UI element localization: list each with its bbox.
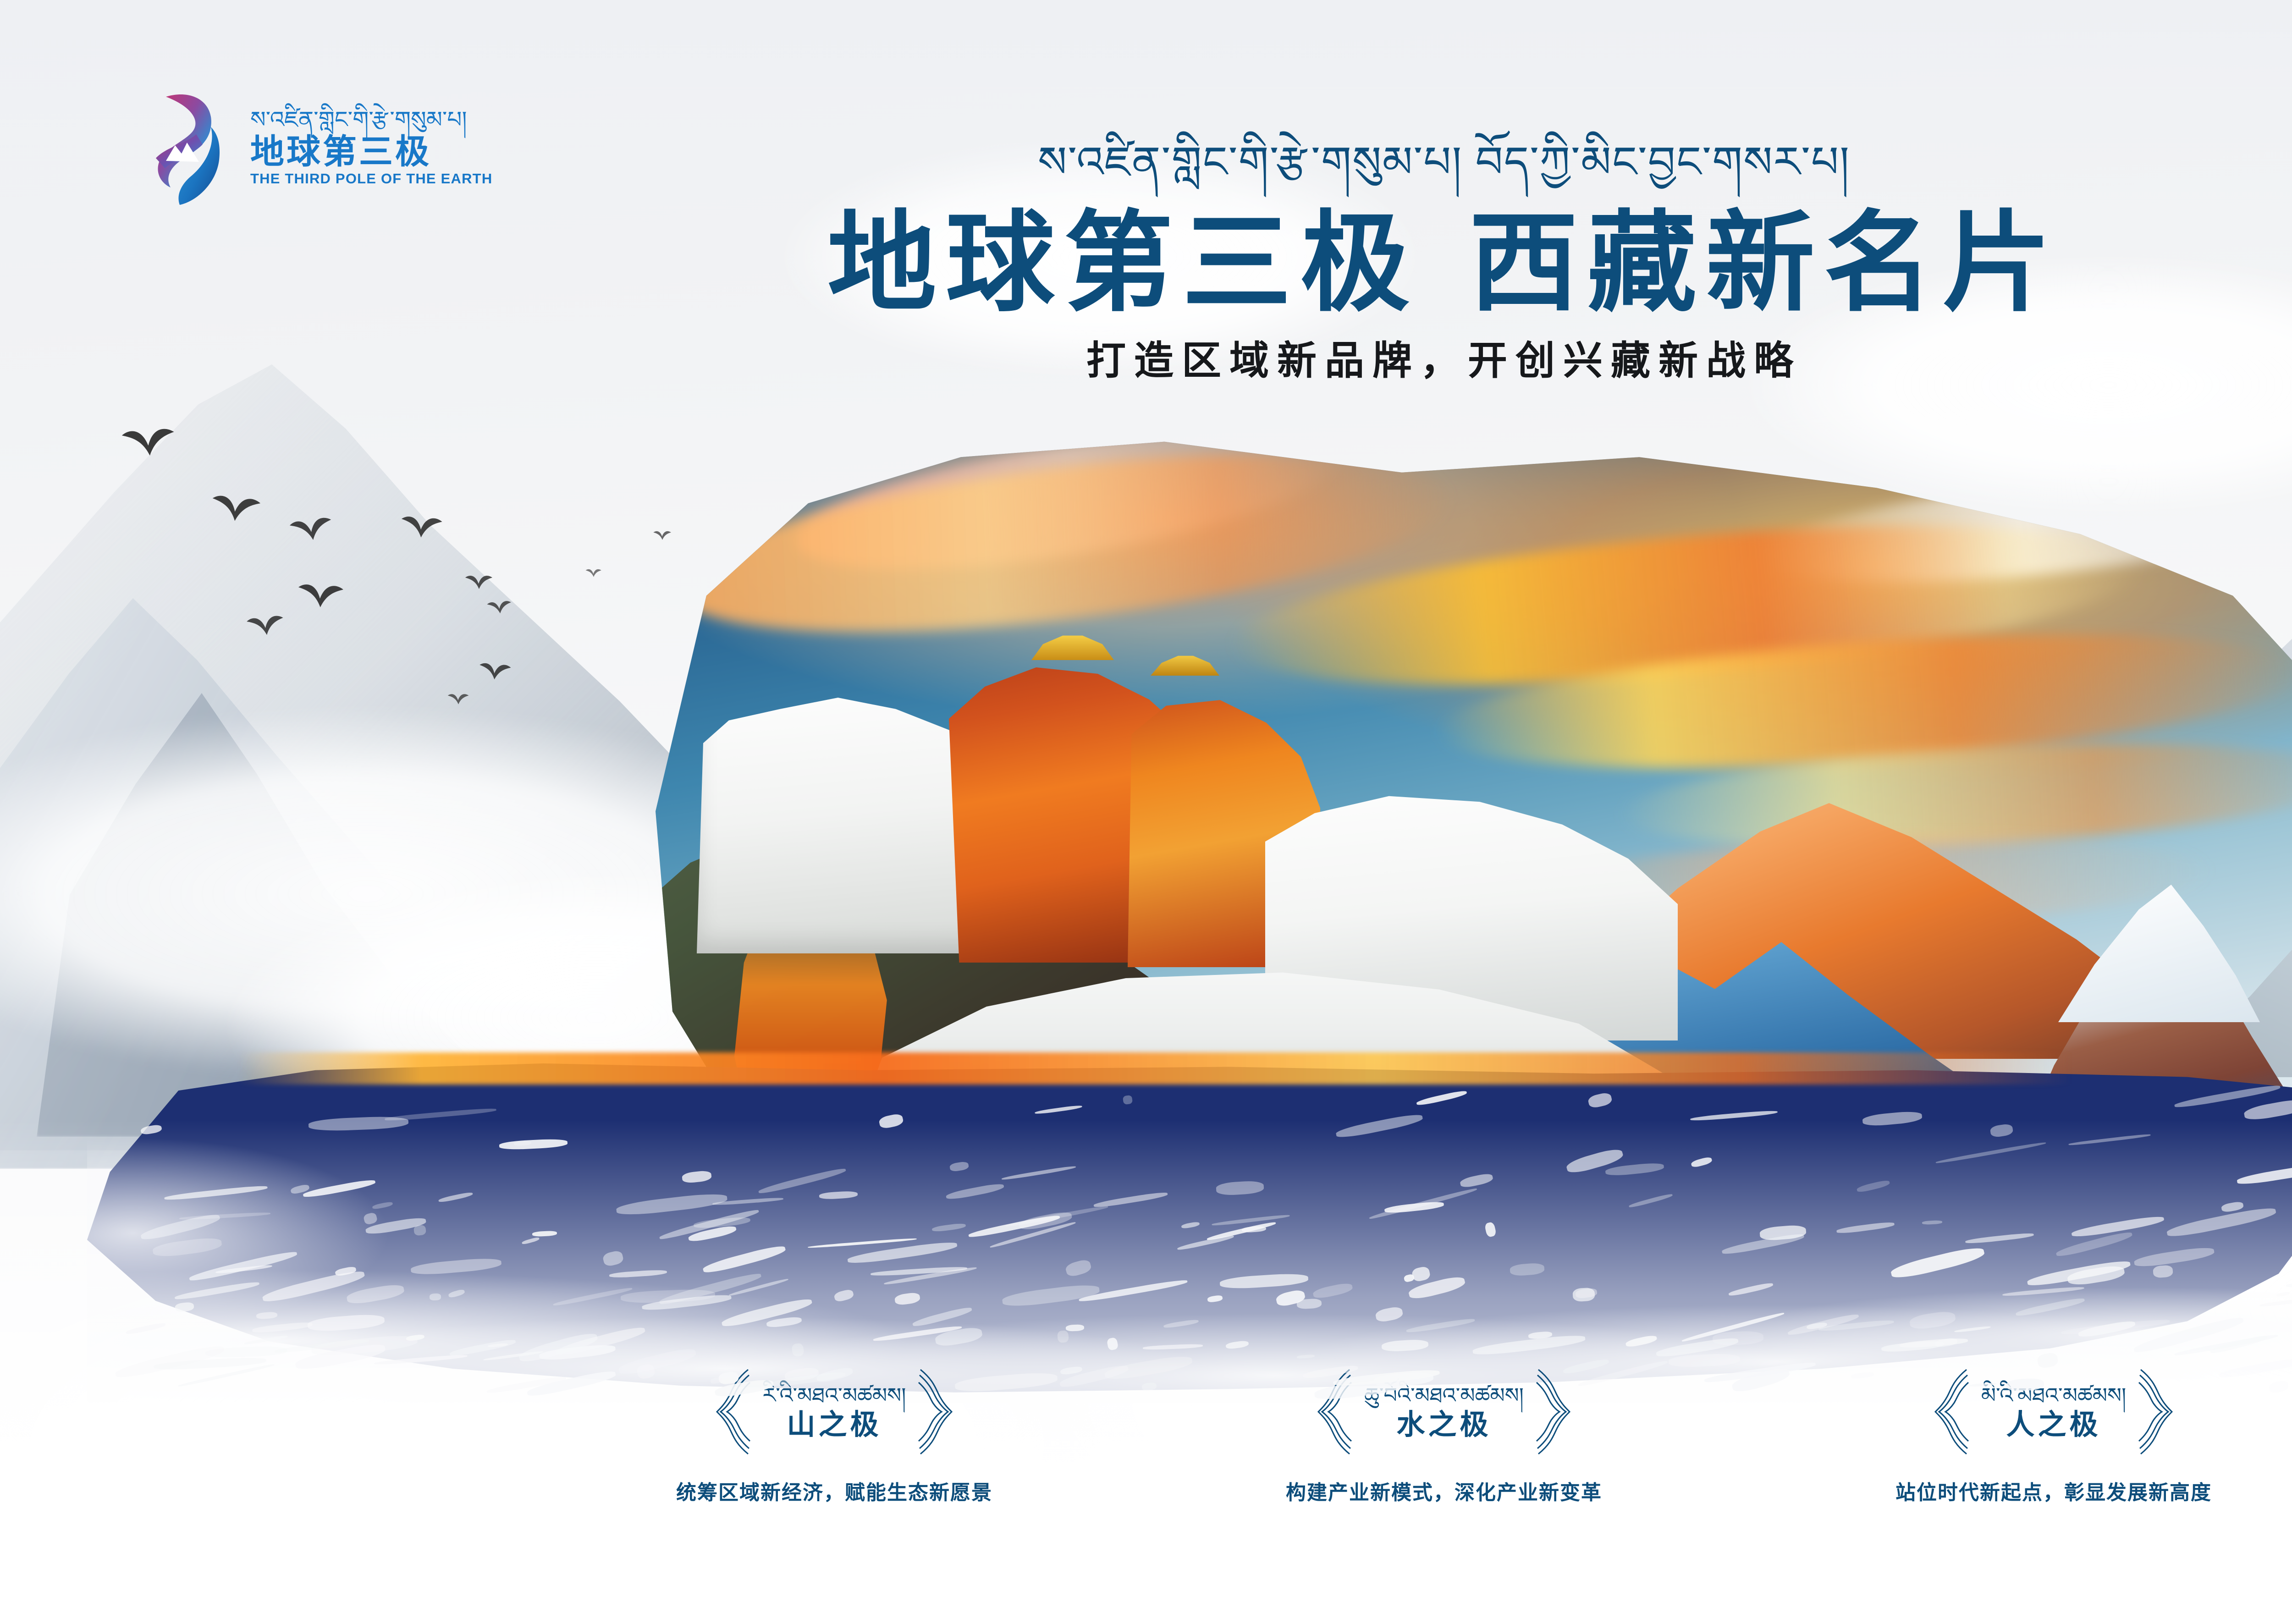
brush-speckle [430, 1294, 441, 1301]
flying-bird-icon [288, 514, 336, 545]
pillar-people[interactable]: མི་འི་མཐའ་མཚམས། 人之极 站位时代新起点，彰显发展新高度 [1847, 1366, 2260, 1505]
bracket-right-icon [2138, 1366, 2180, 1458]
pillar-water-words: ཆུ་བོའི་མཐའ་མཚམས། 水之极 [1364, 1384, 1524, 1440]
bracket-right-icon [918, 1366, 960, 1458]
poster-canvas: ས་འཛིན་གླིང་གི་རྩེ་གསུམ་པ། 地球第三极 THE THI… [0, 0, 2292, 1624]
flying-bird-icon [246, 612, 286, 639]
flying-bird-icon [653, 530, 672, 541]
pillar-people-words: མི་འི་མཐའ་མཚམས། 人之极 [1981, 1384, 2127, 1440]
headline-block: ས་འཛིན་གླིང་གི་རྩེ་གསུམ་པ། བོད་ཀྱི་མིང་བ… [0, 138, 2292, 383]
flying-bird-icon [121, 424, 178, 460]
pillar-water[interactable]: ཆུ་བོའི་མཐའ་མཚམས། 水之极 构建产业新模式，深化产业新变革 [1238, 1366, 1650, 1505]
flying-bird-icon [297, 581, 345, 611]
flying-bird-icon [465, 574, 493, 590]
pillar-mountain-tibetan: རི་འི་མཐའ་མཚམས། [763, 1384, 906, 1407]
pillar-people-desc: 站位时代新起点，彰显发展新高度 [1847, 1476, 2260, 1505]
flying-bird-icon [486, 599, 513, 616]
headline-tibetan: ས་འཛིན་གླིང་གི་རྩེ་གསུམ་པ། བོད་ཀྱི་མིང་བ… [0, 138, 2292, 187]
pillar-people-title: 人之极 [2006, 1410, 2101, 1440]
banner-fire-edge [238, 1052, 2072, 1085]
flying-bird-icon [209, 491, 263, 526]
pillar-mountain-words: རི་འི་མཐའ་མཚམས། 山之极 [763, 1384, 906, 1440]
flying-bird-icon [399, 513, 444, 541]
pillar-water-title: 水之极 [1396, 1410, 1491, 1440]
logo-tibetan-text: ས་འཛིན་གླིང་གི་རྩེ་གསུམ་པ། [250, 108, 492, 132]
flying-bird-icon [478, 661, 512, 683]
pillar-water-desc: 构建产业新模式，深化产业新变革 [1238, 1476, 1650, 1505]
headline-title: 地球第三极西藏新名片 [0, 206, 2292, 321]
headline-title-left: 地球第三极 [827, 203, 1419, 324]
pillar-mountain-desc: 统筹区域新经济，赋能生态新愿景 [628, 1476, 1041, 1505]
brush-speckle [1057, 1330, 1069, 1343]
pillar-people-tibetan: མི་འི་མཐའ་མཚམས། [1981, 1384, 2127, 1407]
bracket-right-icon [1536, 1366, 1578, 1458]
headline-title-right: 西藏新名片 [1469, 203, 2061, 324]
bracket-left-icon [1927, 1366, 1969, 1458]
brush-speckle [1065, 1324, 1084, 1332]
pillar-people-head: མི་འི་མཐའ་མཚམས། 人之极 [1847, 1366, 2260, 1458]
flying-bird-icon [585, 568, 602, 578]
headline-subtitle: 打造区域新品牌，开创兴藏新战略 [0, 339, 2292, 383]
flying-bird-icon [447, 693, 469, 705]
pillar-mountain-title: 山之极 [787, 1410, 882, 1440]
